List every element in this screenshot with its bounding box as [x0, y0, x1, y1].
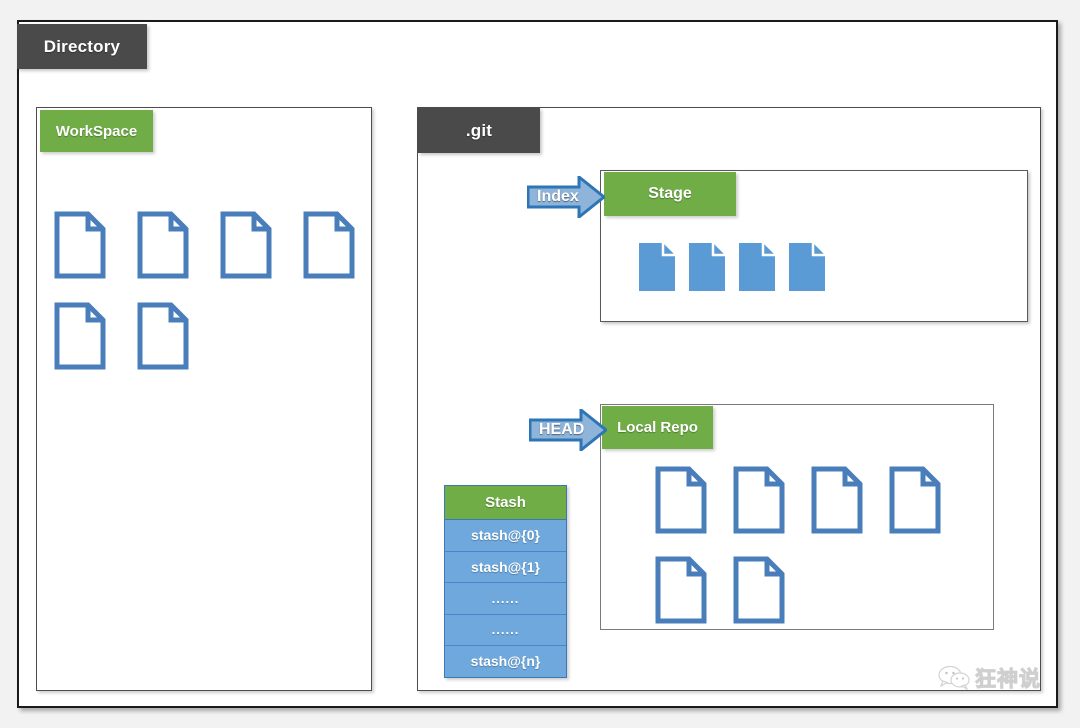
stage-label: Stage	[648, 185, 692, 203]
stage-file-icon-2	[689, 243, 725, 291]
workspace-file-icon-1	[54, 211, 106, 279]
stash-row-0[interactable]: stash@{0}	[445, 520, 566, 552]
stash-row-ellipsis-1: ......	[445, 583, 566, 615]
stage-file-icon-3	[739, 243, 775, 291]
stage-label-tab: Stage	[604, 172, 736, 216]
workspace-file-icon-6	[137, 302, 189, 370]
stash-table: Stash stash@{0} stash@{1} ...... ...... …	[444, 485, 567, 678]
stash-row-ellipsis-2: ......	[445, 615, 566, 647]
stash-row-1[interactable]: stash@{1}	[445, 552, 566, 584]
stage-file-icon-1	[639, 243, 675, 291]
local-repo-file-icon-1	[655, 466, 707, 534]
stash-table-header: Stash	[445, 486, 566, 520]
workspace-label: WorkSpace	[56, 123, 137, 140]
git-label: .git	[466, 121, 492, 141]
git-label-tab: .git	[418, 108, 540, 153]
local-repo-file-icon-3	[811, 466, 863, 534]
local-repo-file-icon-5	[655, 556, 707, 624]
workspace-panel	[36, 107, 372, 691]
local-repo-file-icon-6	[733, 556, 785, 624]
local-repo-label-tab: Local Repo	[602, 406, 713, 449]
workspace-file-icon-4	[303, 211, 355, 279]
workspace-file-icon-2	[137, 211, 189, 279]
directory-label: Directory	[44, 37, 120, 57]
workspace-file-icon-3	[220, 211, 272, 279]
local-repo-file-icon-2	[733, 466, 785, 534]
diagram-canvas: WorkSpace Stage Index	[0, 0, 1080, 728]
index-arrow-shape	[527, 176, 605, 218]
head-arrow: HEAD	[529, 409, 607, 451]
local-repo-file-icon-4	[889, 466, 941, 534]
directory-label-tab: Directory	[17, 24, 147, 69]
head-arrow-shape	[529, 409, 607, 451]
stage-file-icon-4	[789, 243, 825, 291]
stash-row-n[interactable]: stash@{n}	[445, 646, 566, 677]
local-repo-label: Local Repo	[617, 419, 698, 436]
index-arrow: Index	[527, 176, 605, 218]
workspace-file-icon-5	[54, 302, 106, 370]
workspace-label-tab: WorkSpace	[40, 110, 153, 152]
